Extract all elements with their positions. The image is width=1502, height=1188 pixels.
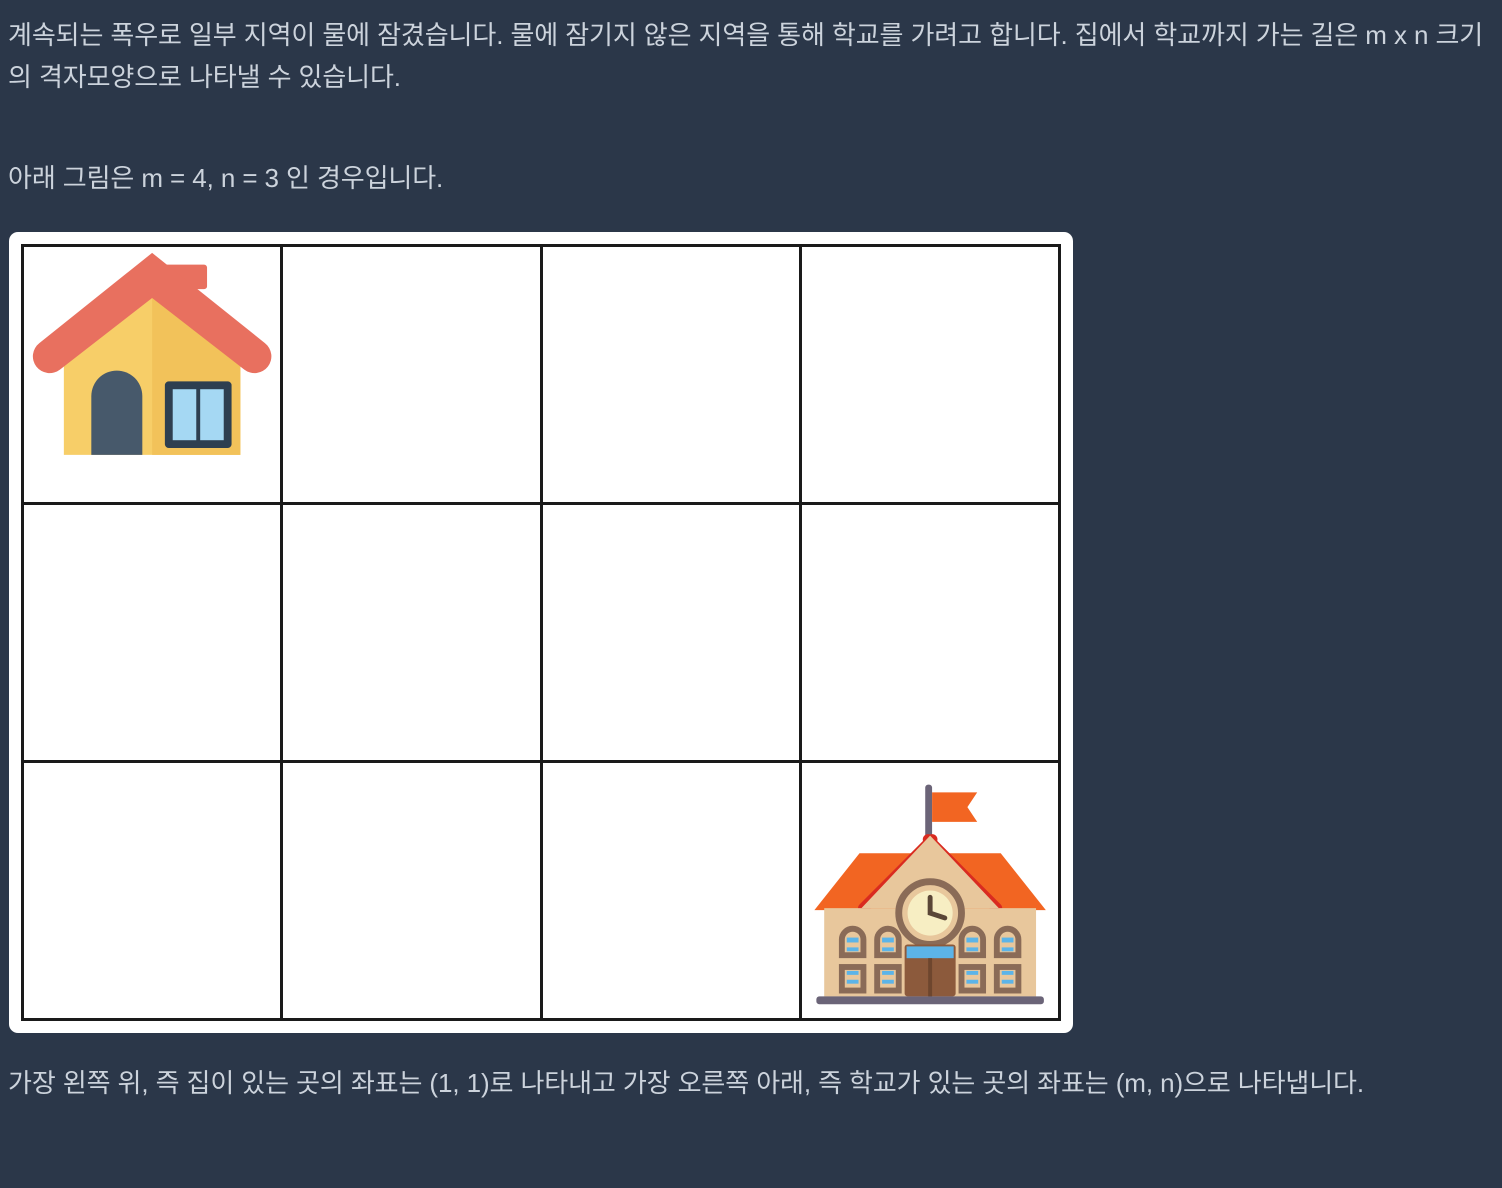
paragraph-intro: 계속되는 폭우로 일부 지역이 물에 잠겼습니다. 물에 잠기지 않은 지역을 … <box>8 14 1486 98</box>
grid-cell-2-1 <box>283 247 542 505</box>
grid-figure-card <box>9 232 1073 1033</box>
grid-cell-1-1 <box>24 247 283 505</box>
grid-cell-1-3 <box>24 763 283 1021</box>
page-root: 계속되는 폭우로 일부 지역이 물에 잠겼습니다. 물에 잠기지 않은 지역을 … <box>0 0 1502 1188</box>
grid-cell-3-1 <box>543 247 802 505</box>
house-icon <box>24 247 280 502</box>
grid-cell-1-2 <box>24 505 283 763</box>
grid-cell-2-2 <box>283 505 542 763</box>
grid-4x3 <box>21 244 1061 1021</box>
grid-cell-4-2 <box>802 505 1061 763</box>
paragraph-example-caption: 아래 그림은 m = 4, n = 3 인 경우입니다. <box>8 157 1486 199</box>
paragraph-coordinates: 가장 왼쪽 위, 즉 집이 있는 곳의 좌표는 (1, 1)로 나타내고 가장 … <box>8 1062 1486 1104</box>
grid-cell-4-3 <box>802 763 1061 1021</box>
school-icon <box>802 763 1058 1018</box>
grid-cell-3-3 <box>543 763 802 1021</box>
grid-cell-4-1 <box>802 247 1061 505</box>
grid-cell-2-3 <box>283 763 542 1021</box>
grid-cell-3-2 <box>543 505 802 763</box>
